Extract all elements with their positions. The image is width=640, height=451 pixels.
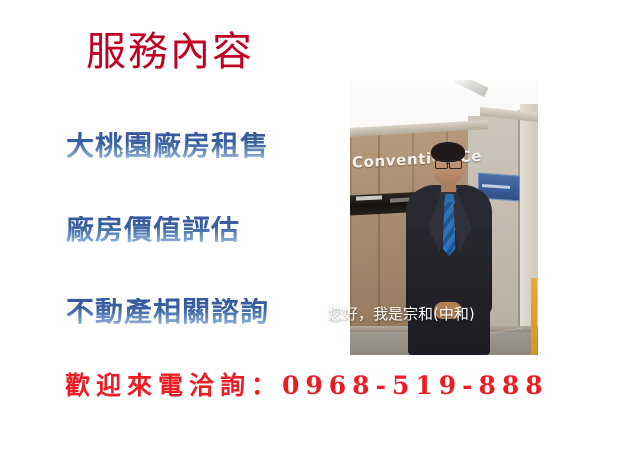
photo-yellow-strip xyxy=(531,278,537,355)
glasses-bridge xyxy=(446,163,449,164)
photo-caption: 您好，我是宗和(中和) xyxy=(328,307,475,322)
contact-phone-line: 歡迎來電洽詢：0968-519-888 xyxy=(65,373,549,398)
glasses-icon xyxy=(435,160,448,169)
slide-canvas: 服務內容 大桃園廠房租售 廠房價值評估 不動產相關諮詢 歡迎來電洽詢：0968-… xyxy=(0,0,640,451)
service-item-3: 不動產相關諮詢 xyxy=(66,298,269,326)
glasses-icon xyxy=(449,160,462,169)
page-title: 服務內容 xyxy=(86,32,254,72)
service-item-2: 廠房價值評估 xyxy=(66,216,240,244)
photo-wall-corner xyxy=(518,110,520,355)
service-item-1: 大桃園廠房租售 xyxy=(66,132,269,160)
person-hair xyxy=(431,142,465,162)
